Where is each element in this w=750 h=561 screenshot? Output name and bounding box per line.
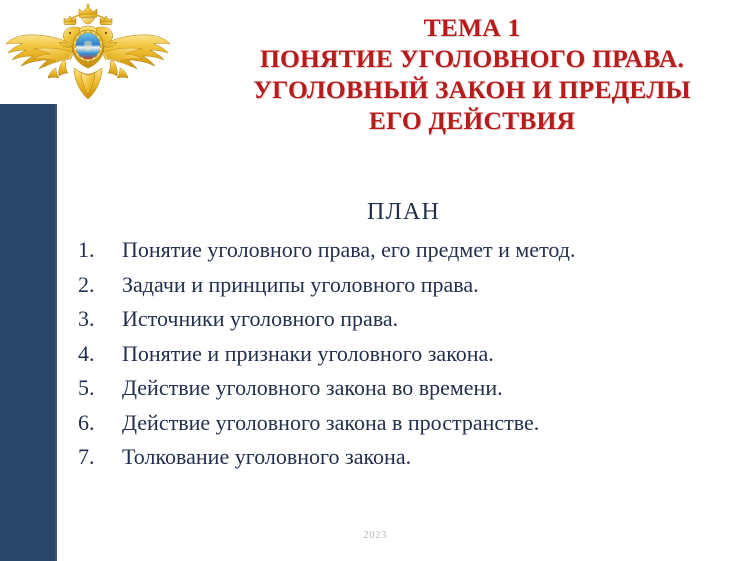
title-line-2: ПОНЯТИЕ УГОЛОВНОГО ПРАВА. — [196, 43, 748, 74]
list-item-number: 3. — [78, 302, 122, 337]
plan-list: 1. Понятие уголовного права, его предмет… — [78, 233, 738, 475]
list-item-label: Понятие уголовного права, его предмет и … — [122, 233, 738, 268]
list-item: 1. Понятие уголовного права, его предмет… — [78, 233, 738, 268]
list-item: 2. Задачи и принципы уголовного права. — [78, 268, 738, 303]
list-item-number: 2. — [78, 268, 122, 303]
list-item: 3. Источники уголовного права. — [78, 302, 738, 337]
title-line-3: УГОЛОВНЫЙ ЗАКОН И ПРЕДЕЛЫ — [196, 74, 748, 105]
list-item: 5. Действие уголовного закона во времени… — [78, 371, 738, 406]
list-item-label: Действие уголовного закона во времени. — [122, 371, 738, 406]
list-item-number: 1. — [78, 233, 122, 268]
left-accent-band — [0, 104, 57, 561]
list-item-label: Источники уголовного права. — [122, 302, 738, 337]
presentation-slide: ТЕМА 1 ПОНЯТИЕ УГОЛОВНОГО ПРАВА. УГОЛОВН… — [0, 0, 750, 561]
list-item-number: 6. — [78, 406, 122, 441]
title-line-4: ЕГО ДЕЙСТВИЯ — [196, 105, 748, 136]
list-item-label: Задачи и принципы уголовного права. — [122, 268, 738, 303]
list-item: 6. Действие уголовного закона в простран… — [78, 406, 738, 441]
list-item-number: 7. — [78, 440, 122, 475]
list-item-number: 5. — [78, 371, 122, 406]
russian-eagle-emblem-icon — [4, 2, 172, 102]
list-item-label: Действие уголовного закона в пространств… — [122, 406, 738, 441]
plan-heading: ПЛАН — [57, 198, 750, 226]
title-line-1: ТЕМА 1 — [196, 12, 748, 43]
list-item-label: Понятие и признаки уголовного закона. — [122, 337, 738, 372]
slide-year: 2023 — [0, 528, 750, 542]
list-item-label: Толкование уголовного закона. — [122, 440, 738, 475]
list-item: 4. Понятие и признаки уголовного закона. — [78, 337, 738, 372]
slide-title: ТЕМА 1 ПОНЯТИЕ УГОЛОВНОГО ПРАВА. УГОЛОВН… — [196, 12, 748, 136]
list-item: 7. Толкование уголовного закона. — [78, 440, 738, 475]
list-item-number: 4. — [78, 337, 122, 372]
